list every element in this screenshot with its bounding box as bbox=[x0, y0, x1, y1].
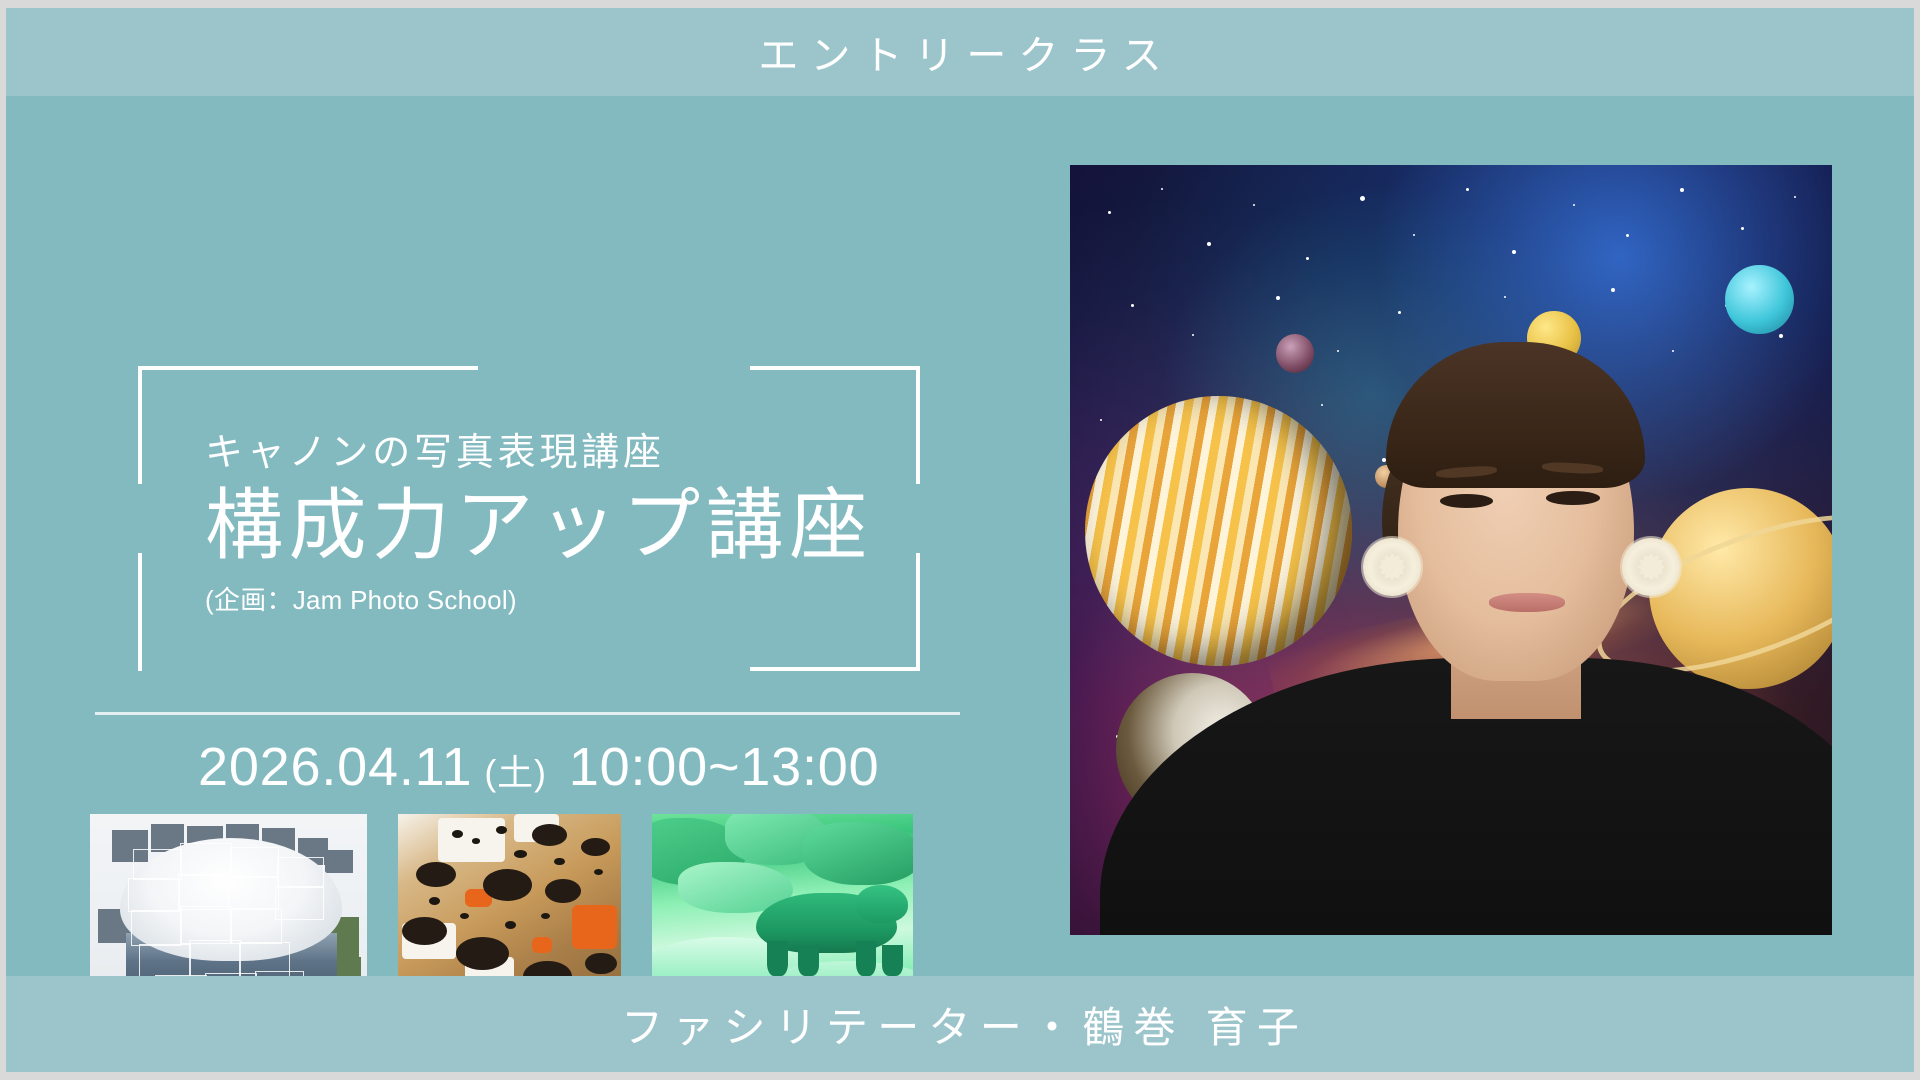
hair bbox=[1386, 342, 1645, 488]
page-edge-right bbox=[1914, 0, 1920, 1080]
bracket-right-upper-segment bbox=[916, 366, 920, 484]
schedule-date: 2026.04.11 bbox=[198, 736, 472, 798]
course-credit: (企画：Jam Photo School) bbox=[205, 580, 517, 617]
bracket-bottom-right-segment bbox=[750, 667, 920, 671]
course-poster: エントリークラス キャノンの写真表現講座 構成力アップ講座 (企画：Jam Ph… bbox=[0, 0, 1920, 1080]
bottom-banner: ファシリテーター・鶴巻 育子 bbox=[6, 976, 1914, 1072]
bear-head bbox=[856, 885, 908, 923]
bracket-top-right-segment bbox=[750, 366, 920, 370]
bracket-top-left-segment bbox=[138, 366, 478, 370]
bracket-left-lower-segment bbox=[138, 553, 142, 671]
horizontal-divider bbox=[95, 712, 960, 715]
bracket-left-upper-segment bbox=[138, 366, 142, 484]
page-edge-bottom bbox=[0, 1072, 1920, 1080]
flower-earring-right bbox=[1622, 538, 1679, 596]
schedule-weekday: (土) bbox=[472, 744, 556, 796]
course-subtitle: キャノンの写真表現講座 bbox=[205, 421, 665, 476]
page-edge-top bbox=[0, 0, 1920, 8]
lips bbox=[1489, 593, 1565, 611]
top-banner: エントリークラス bbox=[6, 8, 1914, 96]
title-column: キャノンの写真表現講座 構成力アップ講座 (企画：Jam Photo Schoo… bbox=[0, 96, 960, 984]
schedule-time: 10:00~13:00 bbox=[557, 736, 880, 798]
bracket-right-lower-segment bbox=[916, 553, 920, 671]
flower-earring-left bbox=[1363, 538, 1420, 596]
eye-left bbox=[1440, 494, 1493, 508]
portrait-subject bbox=[1070, 165, 1832, 935]
facilitator-label: ファシリテーター・鶴巻 育子 bbox=[612, 994, 1308, 1055]
facilitator-portrait bbox=[1070, 165, 1832, 935]
course-title: 構成力アップ講座 bbox=[205, 481, 873, 571]
entry-class-label: エントリークラス bbox=[746, 23, 1173, 81]
schedule-line: 2026.04.11 (土) 10:00~13:00 bbox=[198, 736, 880, 798]
